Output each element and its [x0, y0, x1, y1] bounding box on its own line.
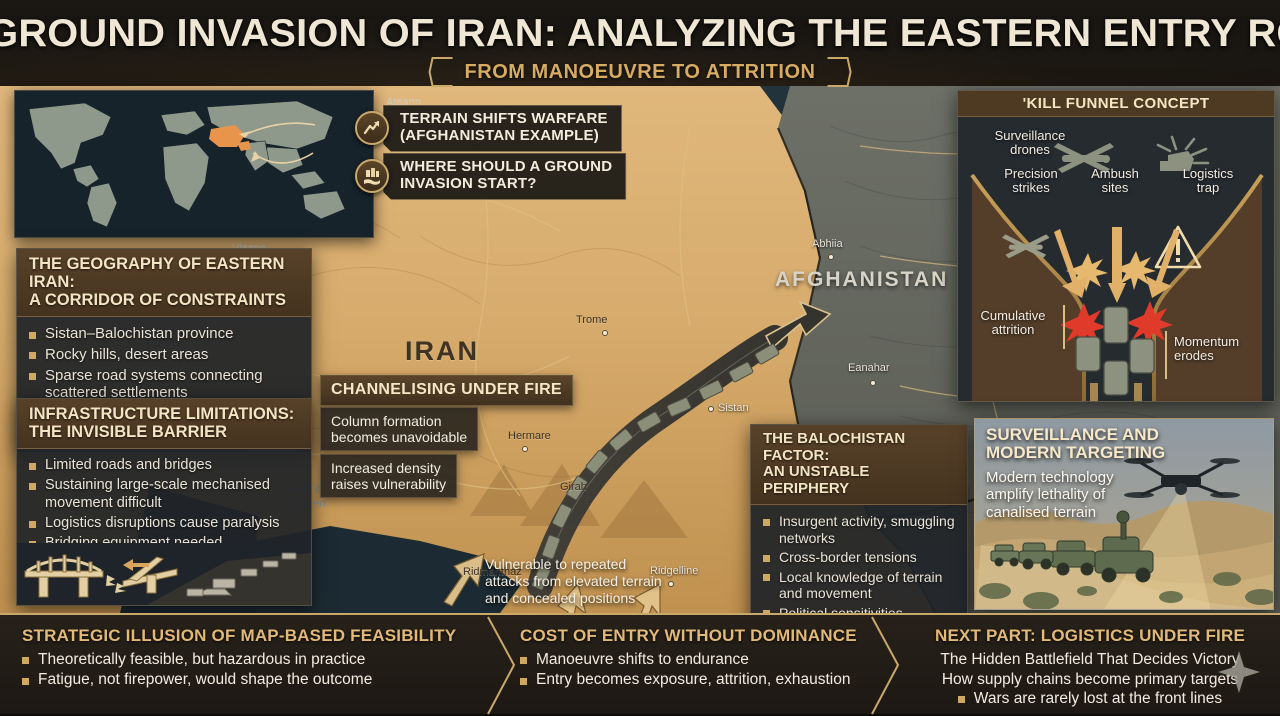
city-label-sistan: Sistan: [718, 402, 749, 414]
bottom-summary-bar: STRATEGIC ILLUSION OF MAP-BASED FEASIBIL…: [0, 613, 1280, 714]
world-map-inset[interactable]: [14, 90, 374, 238]
label-ambush-sites: Ambush sites: [1070, 167, 1160, 196]
vulnerable-note-line1: Vulnerable to repeated: [485, 556, 662, 573]
list-item: Insurgent activity, smuggling networks: [762, 513, 956, 546]
panel-balochistan-title: THE BALOCHISTAN FACTOR: AN UNSTABLE PERI…: [751, 425, 967, 505]
city-label-eanahar: Eanahar: [848, 362, 890, 374]
channelising-note2-line1: Increased density: [331, 460, 446, 476]
surveillance-drones-line2: drones: [980, 143, 1080, 157]
callout-0-line2: (AFGHANISTAN EXAMPLE): [400, 127, 599, 144]
city-dot-trome: [602, 330, 608, 336]
infrastructure-bullet-list: Limited roads and bridges Sustaining lar…: [28, 457, 300, 552]
surveillance-body-line2: amplify lethality of: [986, 486, 1114, 503]
callout-terrain-shifts-warfare[interactable]: TERRAIN SHIFTS WARFARE (AFGHANISTAN EXAM…: [355, 105, 622, 152]
panel-geography-title: THE GEOGRAPHY OF EASTERN IRAN: A CORRIDO…: [17, 249, 311, 317]
bottom-col3-line2: How supply chains become primary targets: [916, 670, 1264, 690]
vulnerable-note-line3: and concealed positions: [485, 590, 662, 607]
channelising-note1-line1: Column formation: [331, 413, 467, 429]
infrastructure-title-line2: THE INVISIBLE BARRIER: [29, 423, 301, 441]
balochistan-title-line2: AN UNSTABLE PERIPHERY: [763, 464, 957, 497]
surveillance-body-line1: Modern technology: [986, 469, 1114, 486]
momentum-erodes-line2: erodes: [1174, 349, 1266, 363]
surveillance-title-line1: SURVEILLANCE AND: [986, 426, 1165, 444]
page-subtitle: FROM MANOEUVRE TO ATTRITION: [455, 61, 826, 84]
city-dot-sistan: [708, 406, 714, 412]
logistics-trap-line2: trap: [1160, 181, 1256, 195]
list-item: Wars are rarely lost at the front lines: [958, 689, 1222, 709]
channelising-note2-line2: raises vulnerability: [331, 476, 446, 492]
city-label-hermare: Hermare: [508, 430, 551, 442]
surveillance-title-line2: MODERN TARGETING: [986, 444, 1165, 462]
geography-title-line1: THE GEOGRAPHY OF EASTERN IRAN:: [29, 255, 301, 291]
bottom-col3-list: Wars are rarely lost at the front lines: [916, 689, 1264, 709]
chevron-left-icon: [429, 57, 455, 87]
bottom-col3-title: NEXT PART: LOGISTICS UNDER FIRE: [916, 626, 1264, 646]
chevron-right-icon: [825, 57, 851, 87]
city-dot-eanahar: [870, 380, 876, 386]
callout-1-line1: WHERE SHOULD A GROUND: [400, 158, 612, 175]
list-item: Cross-border tensions: [762, 549, 956, 566]
list-item: Sustaining large-scale mechanised moveme…: [28, 477, 300, 511]
cumulative-attrition-line2: attrition: [966, 323, 1060, 337]
balochistan-title-line1: THE BALOCHISTAN FACTOR:: [763, 431, 957, 464]
geography-bullet-list: Sistan–Balochistan province Rocky hills,…: [28, 325, 300, 402]
panel-infrastructure-title: INFRASTRUCTURE LIMITATIONS: THE INVISIBL…: [17, 399, 311, 449]
surveillance-body-line3: canalised terrain: [986, 504, 1114, 521]
panel-infrastructure[interactable]: INFRASTRUCTURE LIMITATIONS: THE INVISIBL…: [16, 398, 312, 606]
list-item: Limited roads and bridges: [28, 457, 300, 474]
bottom-col-strategic-illusion: STRATEGIC ILLUSION OF MAP-BASED FEASIBIL…: [0, 615, 498, 714]
callout-1-line2: INVASION START?: [400, 175, 537, 192]
callout-invasion-text: WHERE SHOULD A GROUND INVASION START?: [383, 153, 626, 200]
list-item: Local knowledge of terrain and movement: [762, 569, 956, 602]
list-item: Entry becomes exposure, attrition, exhau…: [520, 670, 874, 690]
channelising-note-2: Increased density raises vulnerability: [320, 454, 457, 498]
list-item: Manoeuvre shifts to endurance: [520, 650, 874, 670]
callout-where-should-invasion-start[interactable]: WHERE SHOULD A GROUND INVASION START?: [355, 153, 626, 200]
list-item: Theoretically feasible, but hazardous in…: [22, 650, 482, 670]
vulnerable-note: Vulnerable to repeated attacks from elev…: [485, 556, 662, 606]
vulnerable-note-line2: attacks from elevated terrain: [485, 573, 662, 590]
bottom-col1-list: Theoretically feasible, but hazardous in…: [22, 650, 482, 691]
list-item: Fatigue, not firepower, would shape the …: [22, 670, 482, 690]
kill-funnel-diagram: Surveillance drones Precision strikes Am…: [958, 117, 1274, 401]
page-title: GROUND INVASION OF IRAN: ANALYZING THE E…: [0, 12, 1280, 56]
bottom-col3-line1: The Hidden Battlefield That Decides Vict…: [916, 650, 1264, 670]
bottom-col-next-part[interactable]: NEXT PART: LOGISTICS UNDER FIRE The Hidd…: [890, 615, 1280, 714]
channelising-note1-line2: becomes unavoidable: [331, 429, 467, 445]
city-dot-abhiia: [828, 254, 834, 260]
subtitle-banner: FROM MANOEUVRE TO ATTRITION: [429, 57, 852, 87]
label-precision-strikes: Precision strikes: [984, 167, 1078, 196]
world-map-svg: [15, 91, 374, 238]
infrastructure-title-line1: INFRASTRUCTURE LIMITATIONS:: [29, 405, 301, 423]
surveillance-title: SURVEILLANCE AND MODERN TARGETING: [986, 426, 1165, 463]
panel-surveillance[interactable]: SURVEILLANCE AND MODERN TARGETING Modern…: [974, 418, 1274, 610]
kill-funnel-title: 'KILL FUNNEL CONCEPT: [958, 91, 1274, 117]
label-logistics-trap: Logistics trap: [1160, 167, 1256, 196]
panel-infrastructure-body: Limited roads and bridges Sustaining lar…: [17, 449, 311, 557]
ambush-sites-line2: sites: [1070, 181, 1160, 195]
list-item: Logistics disruptions cause paralysis: [28, 515, 300, 532]
list-item: Sistan–Balochistan province: [28, 325, 300, 343]
sparkle-icon: [1216, 649, 1262, 695]
bottom-col-cost-of-entry: COST OF ENTRY WITHOUT DOMINANCE Manoeuvr…: [498, 615, 890, 714]
list-item: Rocky hills, desert areas: [28, 346, 300, 364]
geography-title-line2: A CORRIDOR OF CONSTRAINTS: [29, 291, 301, 309]
bottom-col2-title: COST OF ENTRY WITHOUT DOMINANCE: [520, 626, 874, 646]
surveillance-body: Modern technology amplify lethality of c…: [986, 469, 1114, 521]
city-label-abhiia: Abhiia: [812, 238, 843, 250]
label-surveillance-drones: Surveillance drones: [980, 129, 1080, 158]
city-label-trome: Trome: [576, 314, 607, 326]
city-label-girah: Girah: [560, 481, 587, 493]
city-dot-hermare: [522, 446, 528, 452]
channelising-note-1: Column formation becomes unavoidable: [320, 407, 478, 451]
callout-0-line1: TERRAIN SHIFTS WARFARE: [400, 110, 608, 127]
broken-bridge-illustration: [17, 543, 311, 605]
city-dot-ridgelline: [668, 581, 674, 587]
list-item: Sparse road systems connecting scattered…: [28, 367, 300, 402]
callout-terrain-text: TERRAIN SHIFTS WARFARE (AFGHANISTAN EXAM…: [383, 105, 622, 152]
precision-strikes-line2: strikes: [984, 181, 1078, 195]
panel-kill-funnel[interactable]: 'KILL FUNNEL CONCEPT: [957, 90, 1275, 402]
channelising-title: CHANNELISING UNDER FIRE: [320, 375, 573, 406]
label-cumulative-attrition: Cumulative attrition: [966, 309, 1060, 338]
bottom-col2-list: Manoeuvre shifts to endurance Entry beco…: [520, 650, 874, 691]
bottom-col1-title: STRATEGIC ILLUSION OF MAP-BASED FEASIBIL…: [22, 626, 482, 646]
label-momentum-erodes: Momentum erodes: [1174, 335, 1266, 364]
